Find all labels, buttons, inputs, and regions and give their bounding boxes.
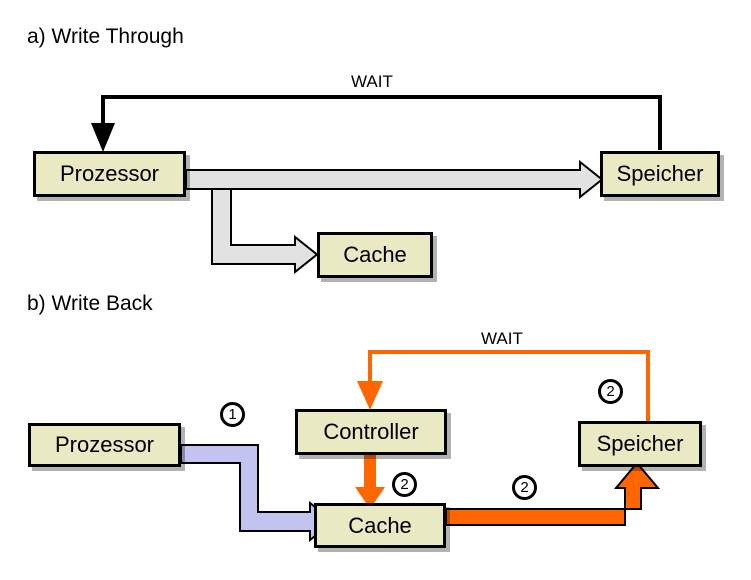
- node-processor-a[interactable]: Prozessor: [33, 151, 186, 197]
- gray-arrow-proc-to-mem: [186, 162, 602, 197]
- lavender-arrow-proc-to-cache: [181, 445, 333, 540]
- node-cache-a[interactable]: Cache: [317, 232, 433, 278]
- node-memory-a[interactable]: Speicher: [600, 151, 720, 197]
- node-memory-a-label: Speicher: [617, 161, 704, 187]
- wait-line-a: [91, 97, 660, 152]
- node-memory-b-label: Speicher: [597, 431, 684, 457]
- diagram-canvas: a) Write Through WAIT Prozessor Cache Sp…: [0, 0, 751, 580]
- wait-label-b: WAIT: [481, 329, 523, 349]
- step-badge-1: 1: [220, 402, 245, 427]
- node-cache-b-label: Cache: [348, 513, 412, 539]
- step-badge-2-memory-wait: 2: [598, 379, 623, 404]
- node-controller-b[interactable]: Controller: [295, 409, 447, 455]
- step-badge-2-controller-cache: 2: [392, 472, 417, 497]
- section-a-title: a) Write Through: [27, 25, 184, 49]
- node-processor-a-label: Prozessor: [60, 161, 159, 187]
- node-cache-b[interactable]: Cache: [314, 503, 446, 548]
- section-b-title: b) Write Back: [27, 292, 153, 316]
- wait-label-a: WAIT: [351, 72, 393, 92]
- orange-ctrl-cache-shape: [355, 455, 385, 509]
- node-processor-b-label: Prozessor: [55, 432, 154, 458]
- gray-arrow-proc-to-cache: [186, 189, 317, 272]
- orange-arrow-cache-to-mem: [446, 463, 658, 525]
- step-badge-2-cache-memory: 2: [512, 475, 537, 500]
- node-controller-b-label: Controller: [323, 419, 418, 445]
- wait-arrowhead-a: [91, 123, 115, 152]
- node-processor-b[interactable]: Prozessor: [28, 423, 181, 467]
- node-memory-b[interactable]: Speicher: [578, 421, 702, 467]
- node-cache-a-label: Cache: [343, 242, 407, 268]
- wait-arrowhead-b: [357, 381, 383, 410]
- orange-arrow-ctrl-to-cache: [355, 455, 385, 509]
